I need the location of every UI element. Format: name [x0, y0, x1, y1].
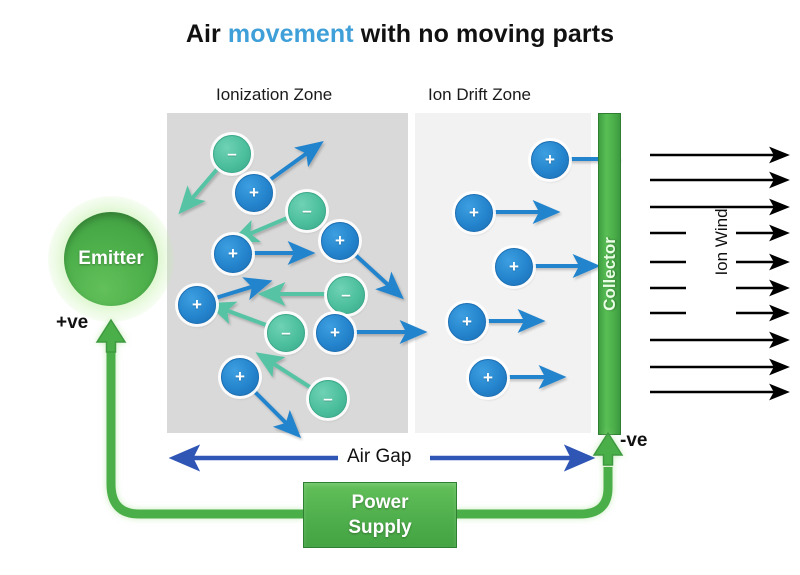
minus-icon: – [227, 145, 236, 162]
negative-ion: – [288, 192, 326, 230]
plus-icon: + [228, 245, 238, 262]
positive-ion: + [495, 248, 533, 286]
collector-electrode[interactable]: Collector [598, 113, 621, 435]
plus-icon: + [462, 313, 472, 330]
emitter-label: Emitter [78, 248, 143, 270]
collector-label: Collector [600, 237, 620, 311]
power-supply-label-line1: Power [351, 490, 408, 515]
air-gap-label: Air Gap [340, 446, 418, 468]
page-title: Air movement with no moving parts [0, 20, 800, 49]
positive-ion: + [531, 141, 569, 179]
positive-ion: + [214, 235, 252, 273]
negative-ion: – [327, 276, 365, 314]
plus-icon: + [483, 369, 493, 386]
negative-ion: – [267, 314, 305, 352]
collector-polarity-label: -ve [620, 430, 647, 452]
plus-icon: + [235, 368, 245, 385]
title-accent-word: movement [228, 20, 354, 48]
power-supply-label-line2: Supply [348, 515, 411, 540]
title-part-1: Air [186, 20, 228, 48]
emitter-electrode[interactable]: Emitter [64, 212, 158, 306]
collector-wire-arrowhead [594, 433, 622, 465]
minus-icon: – [323, 390, 332, 407]
positive-ion: + [221, 358, 259, 396]
minus-icon: – [281, 324, 290, 341]
title-part-2: with no moving parts [354, 20, 614, 48]
ion-drift-zone-label: Ion Drift Zone [428, 85, 531, 105]
negative-ion: – [213, 135, 251, 173]
plus-icon: + [335, 232, 345, 249]
wire-collector [455, 467, 608, 514]
emitter-polarity-label: +ve [56, 312, 88, 334]
plus-icon: + [249, 184, 259, 201]
minus-icon: – [302, 202, 311, 219]
power-supply-box[interactable]: Power Supply [303, 482, 457, 548]
positive-ion: + [448, 303, 486, 341]
plus-icon: + [192, 296, 202, 313]
positive-ion: + [316, 314, 354, 352]
ion-wind-label: Ion Wind [712, 192, 732, 292]
negative-ion: – [309, 380, 347, 418]
positive-ion: + [235, 174, 273, 212]
positive-ion: + [321, 222, 359, 260]
minus-icon: – [341, 286, 350, 303]
ionization-zone-panel [167, 113, 408, 433]
positive-ion: + [178, 286, 216, 324]
positive-ion: + [469, 359, 507, 397]
positive-ion: + [455, 194, 493, 232]
diagram-canvas: Air movement with no moving parts Ioniza… [0, 0, 800, 575]
plus-icon: + [509, 258, 519, 275]
plus-icon: + [469, 204, 479, 221]
plus-icon: + [545, 151, 555, 168]
plus-icon: + [330, 324, 340, 341]
ionization-zone-label: Ionization Zone [216, 85, 332, 105]
emitter-wire-arrowhead [97, 320, 125, 352]
